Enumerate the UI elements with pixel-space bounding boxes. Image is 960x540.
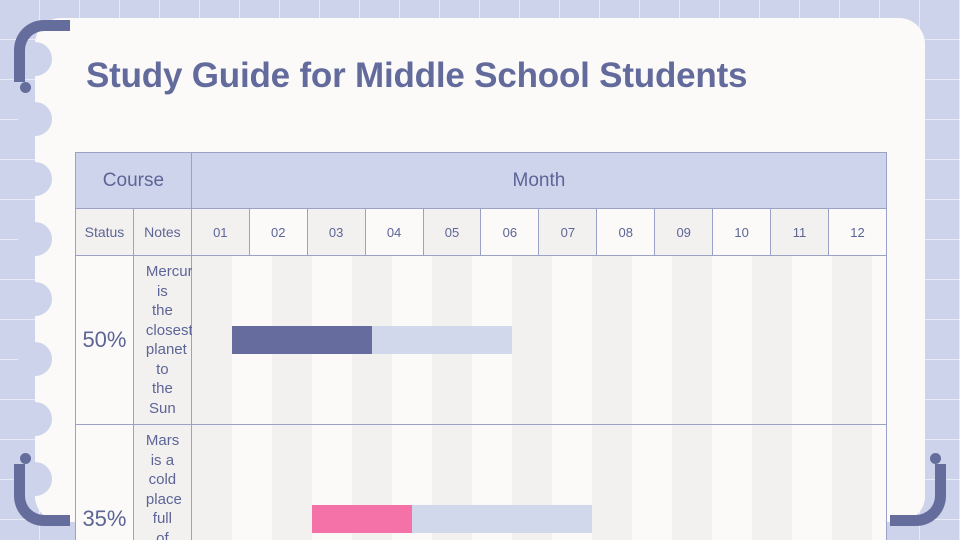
gantt-bar-progress	[312, 505, 412, 533]
gantt-table: Course Month Status Notes 01020304050607…	[75, 152, 887, 540]
table-group-header-row: Course Month	[76, 153, 887, 209]
gantt-bar-remaining	[412, 505, 592, 533]
column-header-month-08: 08	[597, 209, 655, 256]
scallop-notch	[18, 282, 52, 316]
corner-bracket-bottom-left	[14, 464, 70, 526]
scallop-notch	[18, 102, 52, 136]
column-header-month-06: 06	[481, 209, 539, 256]
column-header-month-11: 11	[771, 209, 829, 256]
gantt-bar-remaining	[372, 326, 512, 354]
column-header-month-05: 05	[423, 209, 481, 256]
scallop-notch	[18, 402, 52, 436]
column-header-status: Status	[76, 209, 134, 256]
corner-bracket-top-left	[14, 20, 70, 82]
gantt-track-cell	[191, 425, 886, 540]
column-header-month-12: 12	[828, 209, 886, 256]
table-sub-header-row: Status Notes 010203040506070809101112	[76, 209, 887, 256]
column-header-month-09: 09	[655, 209, 713, 256]
scallop-notch	[18, 162, 52, 196]
notes-cell: Mercury is the closest planet to the Sun	[133, 256, 191, 425]
column-header-month-03: 03	[307, 209, 365, 256]
column-header-month-01: 01	[191, 209, 249, 256]
group-header-month: Month	[191, 153, 886, 209]
column-header-month-02: 02	[249, 209, 307, 256]
bracket-cap	[930, 453, 941, 464]
column-header-notes: Notes	[133, 209, 191, 256]
table-row: 50%Mercury is the closest planet to the …	[76, 256, 887, 425]
corner-bracket-bottom-right	[890, 464, 946, 526]
bracket-cap	[20, 453, 31, 464]
gantt-bar[interactable]	[232, 326, 512, 354]
column-header-month-07: 07	[539, 209, 597, 256]
status-badge: 35%	[76, 425, 134, 540]
table-body: 50%Mercury is the closest planet to the …	[76, 256, 887, 540]
page-title: Study Guide for Middle School Students	[86, 56, 747, 96]
gantt-bar[interactable]	[312, 505, 592, 533]
column-header-month-10: 10	[713, 209, 771, 256]
notes-cell: Mars is a cold place full of iron oxide …	[133, 425, 191, 540]
group-header-course: Course	[76, 153, 192, 209]
gantt-track-cell	[191, 256, 886, 425]
column-header-month-04: 04	[365, 209, 423, 256]
scallop-notch	[18, 342, 52, 376]
status-badge: 50%	[76, 256, 134, 425]
table-row: 35%Mars is a cold place full of iron oxi…	[76, 425, 887, 540]
bracket-cap	[20, 82, 31, 93]
gantt-bar-progress	[232, 326, 372, 354]
scallop-notch	[18, 222, 52, 256]
